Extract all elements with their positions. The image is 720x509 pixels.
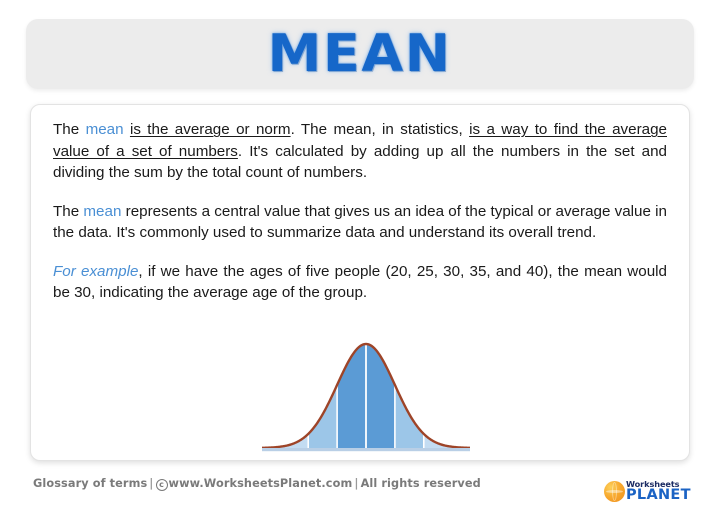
- text-segment: , if we have the ages of five people (20…: [53, 263, 667, 302]
- text-segment: The: [53, 121, 86, 138]
- footer-separator: |: [147, 477, 155, 490]
- normal-distribution-chart: [262, 338, 470, 460]
- paragraph-explanation: The mean represents a central value that…: [53, 201, 667, 244]
- underlined-definition-a: is the average or norm: [130, 121, 291, 138]
- site-url[interactable]: www.WorksheetsPlanet.com: [169, 477, 353, 490]
- page-root: MEAN The mean is the average or norm. Th…: [0, 0, 720, 509]
- footer-separator: |: [352, 477, 360, 490]
- distribution-band-outer-left: [262, 338, 308, 448]
- globe-icon: [604, 481, 625, 502]
- worksheets-planet-logo[interactable]: Worksheets PLANET: [604, 478, 702, 505]
- footer-credits: Glossary of terms|cwww.WorksheetsPlanet.…: [33, 477, 481, 491]
- rights-reserved-label: All rights reserved: [361, 477, 481, 490]
- bell-curve-figure: [262, 338, 470, 460]
- text-segment: . The mean, in statistics,: [291, 121, 470, 138]
- page-title: MEAN: [268, 28, 452, 80]
- paragraph-example: For example, if we have the ages of five…: [53, 261, 667, 304]
- glossary-label: Glossary of terms: [33, 477, 147, 490]
- title-card: MEAN: [26, 19, 694, 89]
- text-segment: represents a central value that gives us…: [53, 203, 667, 242]
- keyword-mean: mean: [83, 203, 121, 220]
- copyright-icon: c: [156, 479, 168, 491]
- text-segment: The: [53, 203, 83, 220]
- for-example-label: For example: [53, 263, 138, 280]
- logo-line-planet: PLANET: [626, 488, 691, 503]
- footer: Glossary of terms|cwww.WorksheetsPlanet.…: [0, 472, 720, 509]
- logo-wordmark: Worksheets PLANET: [626, 480, 691, 503]
- chart-baseline: [262, 448, 470, 451]
- keyword-mean: mean: [86, 121, 124, 138]
- distribution-band-outer-right: [424, 338, 470, 448]
- paragraph-definition: The mean is the average or norm. The mea…: [53, 119, 667, 184]
